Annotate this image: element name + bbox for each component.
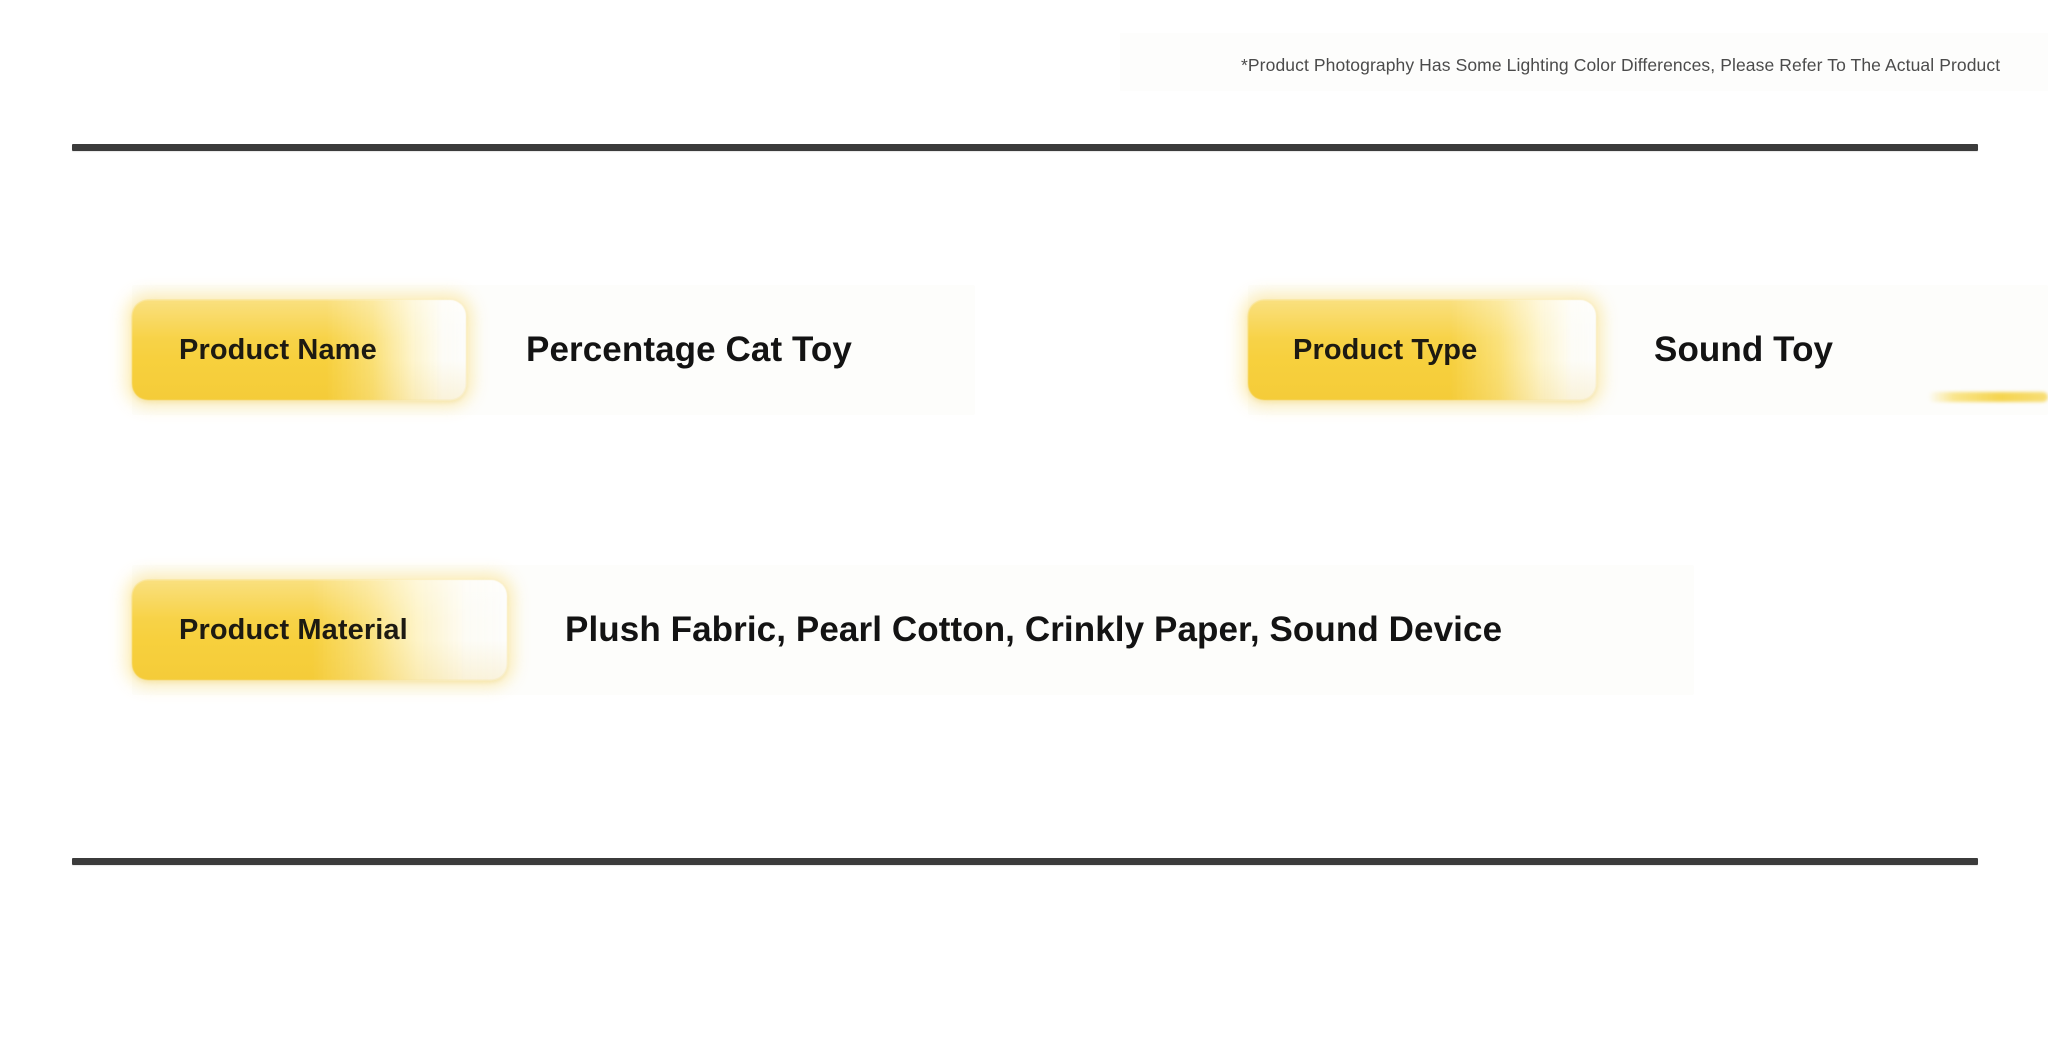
product-spec-sheet: *Product Photography Has Some Lighting C… (0, 0, 2048, 1037)
spec-row-product-name: Product Name Percentage Cat Toy (132, 285, 975, 415)
edge-gold-sliver (1928, 392, 2048, 402)
spec-label-product-material: Product Material (179, 614, 408, 647)
spec-value-product-type: Sound Toy (1654, 330, 1833, 370)
photography-disclaimer-text: *Product Photography Has Some Lighting C… (1241, 54, 2048, 76)
badge-product-material: Product Material (132, 580, 507, 680)
divider-bottom (72, 858, 1978, 865)
badge-product-name: Product Name (132, 300, 466, 400)
spec-value-product-name: Percentage Cat Toy (526, 330, 852, 370)
spec-value-product-material: Plush Fabric, Pearl Cotton, Crinkly Pape… (565, 610, 1502, 650)
spec-row-product-material: Product Material Plush Fabric, Pearl Cot… (132, 565, 1694, 695)
divider-top (72, 144, 1978, 151)
spec-label-product-name: Product Name (179, 334, 377, 367)
spec-label-product-type: Product Type (1293, 334, 1477, 367)
badge-product-type: Product Type (1248, 300, 1596, 400)
